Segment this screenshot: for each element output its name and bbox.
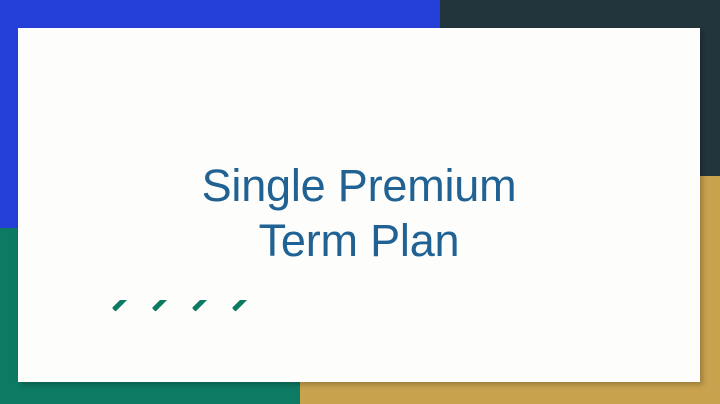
slide-title: Single Premium Term Plan xyxy=(18,159,700,269)
slide-title-line-2: Term Plan xyxy=(18,214,700,269)
slide-content-card: Single Premium Term Plan xyxy=(18,28,700,382)
title-slide: Single Premium Term Plan xyxy=(0,0,720,404)
slide-title-line-1: Single Premium xyxy=(18,159,700,214)
